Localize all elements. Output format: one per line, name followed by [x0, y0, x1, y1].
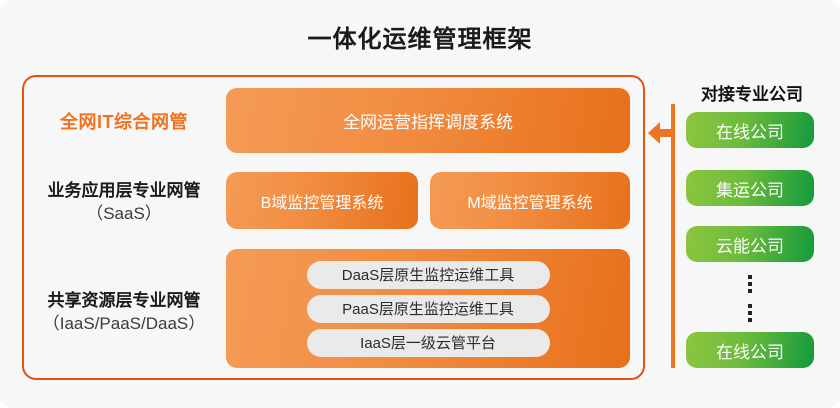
framework-diagram: 一体化运维管理框架 全网IT综合网管 业务应用层专业网管 （SaaS） 共享资源… [0, 0, 840, 408]
row-label-line1: 业务应用层专业网管 [26, 180, 222, 203]
partner-column-rail [671, 104, 675, 368]
partner-item-logistics-company[interactable]: 集运公司 [686, 170, 814, 206]
partner-list-ellipsis [686, 272, 814, 324]
ellipsis-dot [748, 275, 752, 279]
arrow-head [648, 122, 660, 144]
ellipsis-dot [748, 282, 752, 286]
pill-paas-tool[interactable]: PaaS层原生监控运维工具 [307, 295, 550, 323]
page-title: 一体化运维管理框架 [0, 19, 840, 54]
box-b-domain-monitoring-system[interactable]: B域监控管理系统 [226, 172, 418, 229]
ellipsis-dot [748, 289, 752, 293]
pill-iaas-platform[interactable]: IaaS层一级云管平台 [307, 329, 550, 357]
partner-item-online-company[interactable]: 在线公司 [686, 112, 814, 148]
ellipsis-dot [748, 311, 752, 315]
row-label-line2: （IaaS/PaaS/DaaS） [26, 313, 222, 336]
ellipsis-dot [748, 318, 752, 322]
partner-item-cloud-energy-company[interactable]: 云能公司 [686, 226, 814, 262]
ellipsis-dot [748, 304, 752, 308]
row-label-integrated-network-management: 全网IT综合网管 [26, 110, 222, 134]
ellipsis-group-bottom [748, 304, 752, 322]
box-m-domain-monitoring-system[interactable]: M域监控管理系统 [430, 172, 630, 229]
row-label-line2: （SaaS） [26, 203, 222, 226]
partner-item-online-company-last[interactable]: 在线公司 [686, 332, 814, 368]
row-label-line1: 共享资源层专业网管 [26, 290, 222, 313]
ellipsis-group-top [748, 275, 752, 293]
box-shared-resource-container: DaaS层原生监控运维工具 PaaS层原生监控运维工具 IaaS层一级云管平台 [226, 249, 630, 368]
pill-daas-tool[interactable]: DaaS层原生监控运维工具 [307, 261, 550, 289]
row-label-line1: 全网IT综合网管 [26, 110, 222, 134]
partner-column-title: 对接专业公司 [672, 80, 832, 105]
row-label-shared-resource-layer: 共享资源层专业网管 （IaaS/PaaS/DaaS） [26, 290, 222, 336]
box-operations-command-dispatch-system[interactable]: 全网运营指挥调度系统 [226, 88, 630, 153]
row-label-saas-layer: 业务应用层专业网管 （SaaS） [26, 180, 222, 226]
